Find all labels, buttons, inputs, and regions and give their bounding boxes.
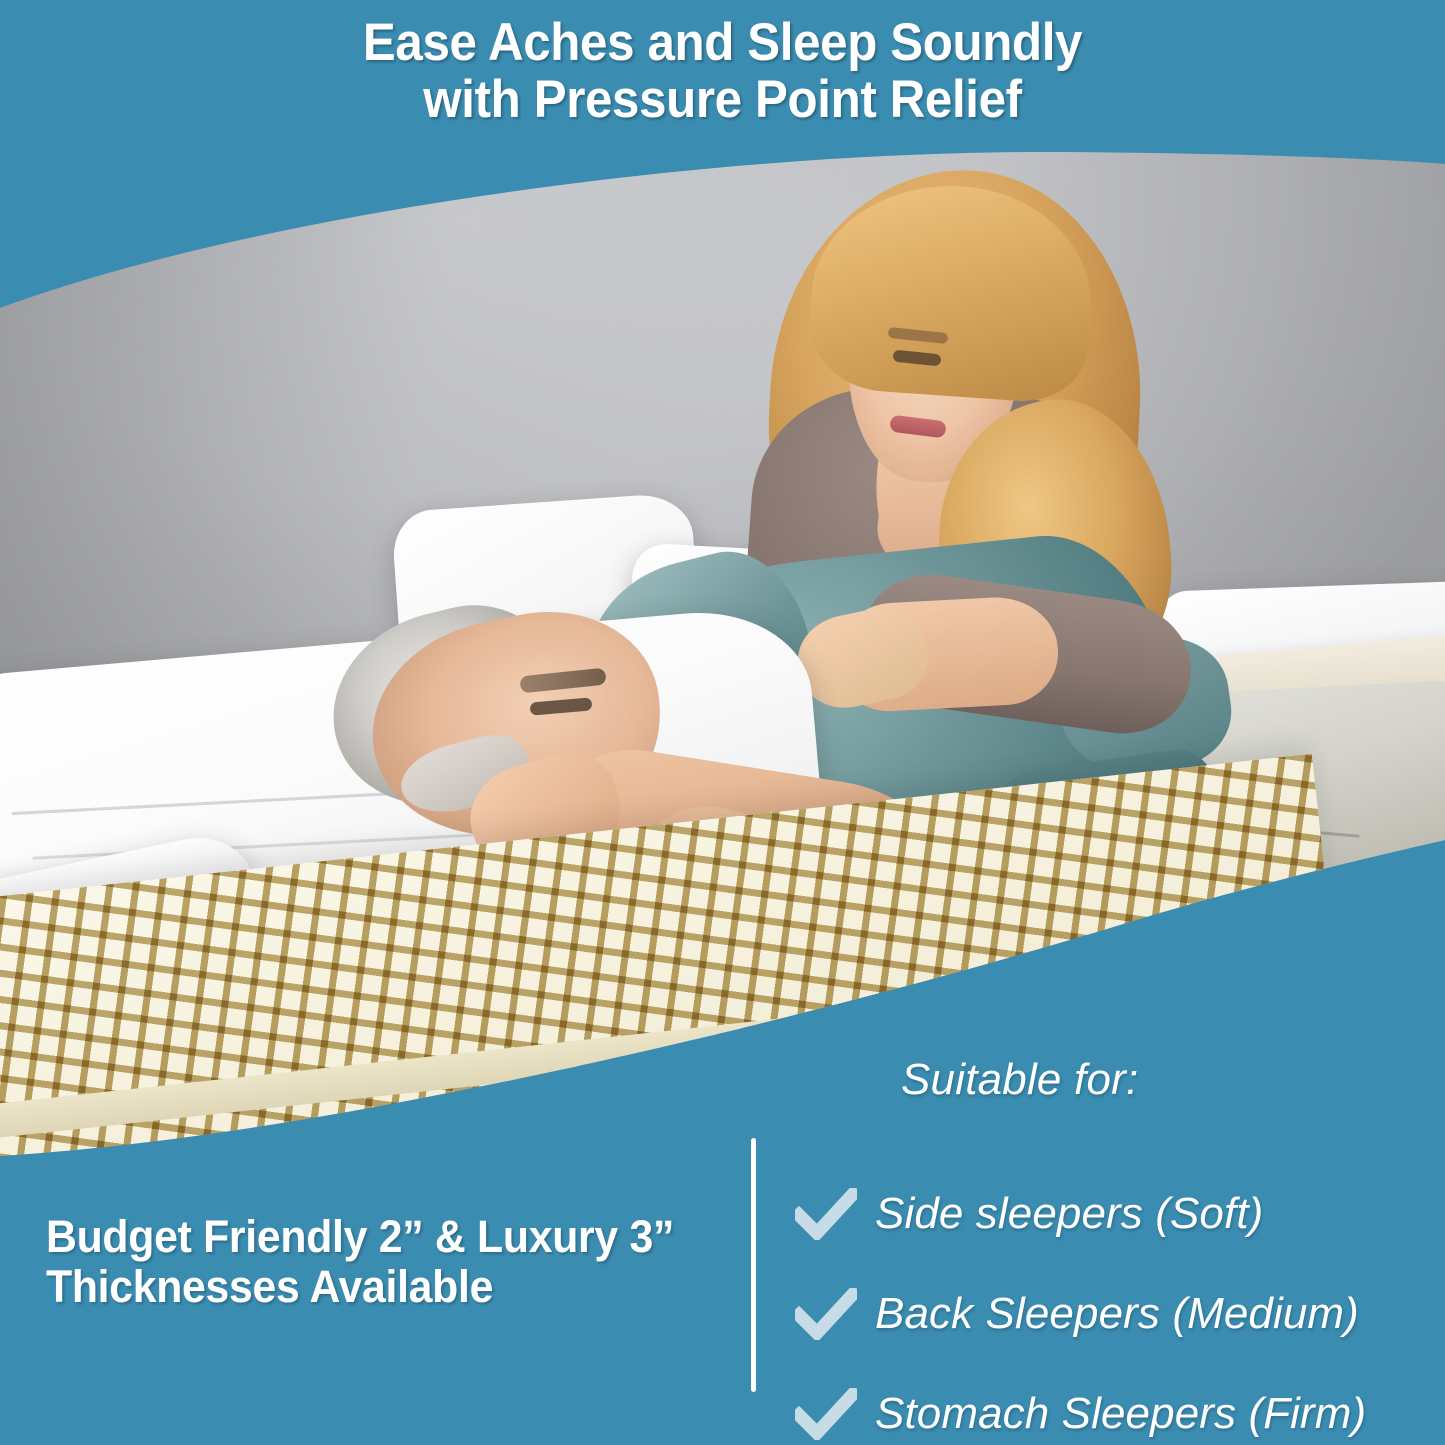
list-item-label: Side sleepers (Soft) xyxy=(875,1189,1263,1239)
list-item: Side sleepers (Soft) xyxy=(795,1173,1435,1255)
page-title: Ease Aches and Sleep Soundly with Pressu… xyxy=(51,14,1395,128)
product-banner: Ease Aches and Sleep Soundly with Pressu… xyxy=(0,0,1445,1445)
thickness-headline: Budget Friendly 2” & Luxury 3” Thickness… xyxy=(46,1212,692,1313)
headline-line-1: Ease Aches and Sleep Soundly xyxy=(363,13,1082,72)
list-item: Stomach Sleepers (Firm) xyxy=(795,1373,1435,1445)
check-icon xyxy=(795,1188,857,1240)
list-item-label: Stomach Sleepers (Firm) xyxy=(875,1389,1366,1439)
list-item: Back Sleepers (Medium) xyxy=(795,1273,1435,1355)
suitable-for-title: Suitable for: xyxy=(795,1055,1138,1113)
vertical-divider xyxy=(751,1138,756,1392)
check-icon xyxy=(795,1388,857,1440)
headline-line-2: with Pressure Point Relief xyxy=(51,71,1395,128)
lifestyle-photo xyxy=(0,0,1445,1200)
list-item-label: Back Sleepers (Medium) xyxy=(875,1289,1359,1339)
suitable-for-list: Side sleepers (Soft) Back Sleepers (Medi… xyxy=(795,1173,1435,1445)
suitable-for-panel: Suitable for: Side sleepers (Soft) Back … xyxy=(795,1055,1435,1113)
check-icon xyxy=(795,1288,857,1340)
